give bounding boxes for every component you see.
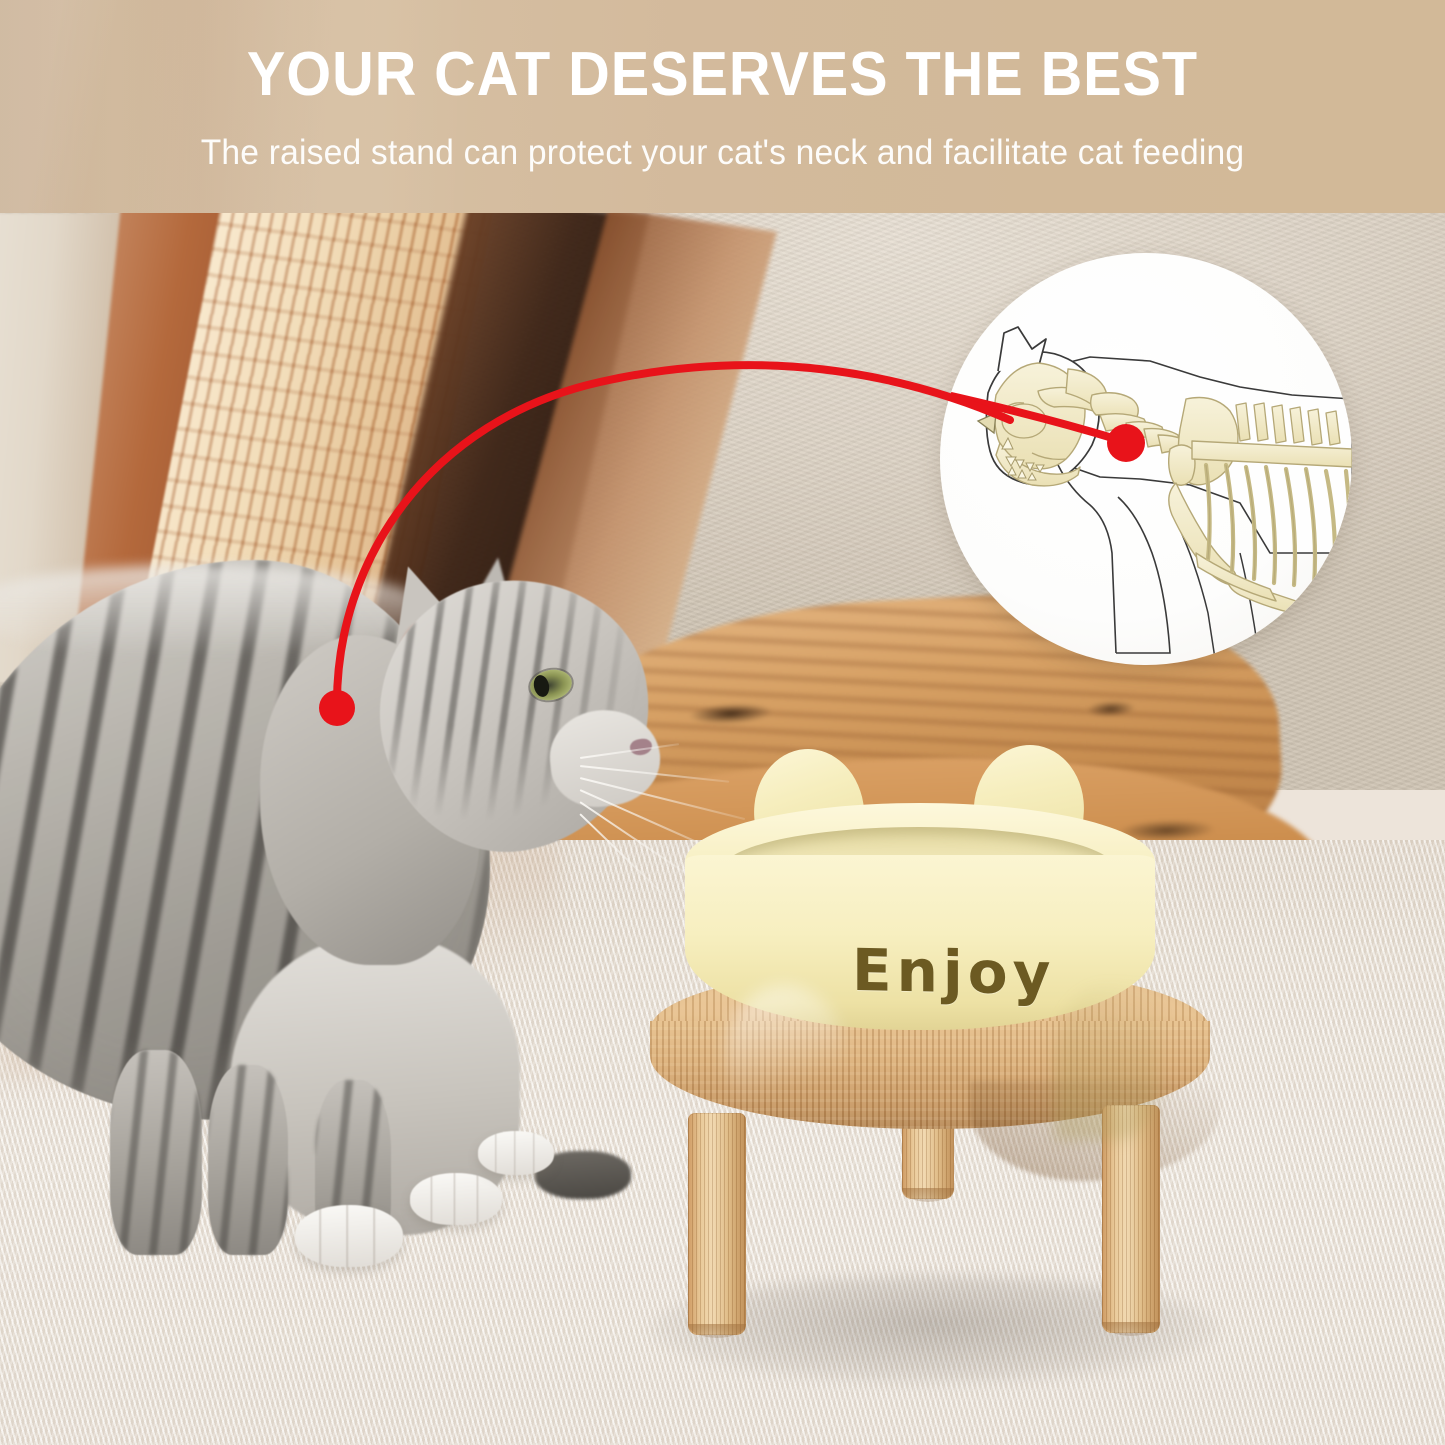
cat-paw — [410, 1173, 502, 1225]
cat-leg — [110, 1050, 202, 1255]
banner-headline: YOUR CAT DESERVES THE BEST — [51, 44, 1395, 106]
product-marketing-image: Enjoy — [0, 0, 1445, 1445]
cat — [0, 505, 690, 1295]
skeleton-inset-circle — [940, 253, 1352, 665]
product-group: Enjoy — [640, 735, 1220, 1335]
inset-pressure-marker — [1107, 424, 1145, 462]
banner-subline: The raised stand can protect your cat's … — [29, 135, 1416, 170]
cat-legs — [80, 1035, 480, 1295]
ceramic-cat-bowl: Enjoy — [675, 735, 1165, 1035]
cat-paw — [478, 1131, 554, 1175]
bowl-engraved-text-wrap: Enjoy — [685, 855, 1155, 1030]
cat-paw — [295, 1205, 403, 1267]
top-banner: YOUR CAT DESERVES THE BEST The raised st… — [0, 0, 1445, 213]
bowl-body: Enjoy — [685, 855, 1155, 1030]
stand-leg-front-left — [688, 1113, 746, 1335]
photo-scene: Enjoy — [0, 0, 1445, 1445]
cat-leg — [208, 1065, 288, 1255]
cat-skeleton-illustration — [940, 253, 1352, 665]
bowl-engraved-text: Enjoy — [852, 935, 1055, 1007]
